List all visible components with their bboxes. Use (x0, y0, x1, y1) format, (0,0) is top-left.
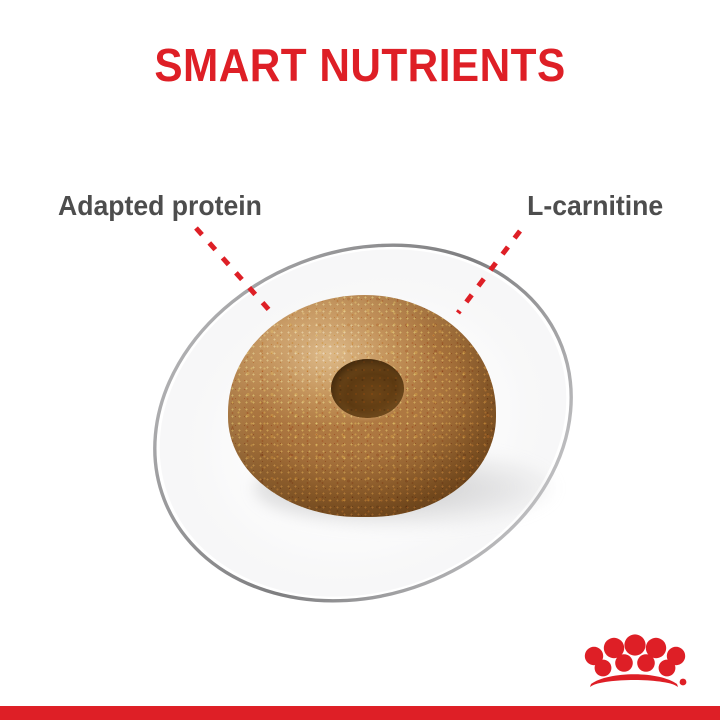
kibble-hole-texture (331, 359, 404, 418)
crown-dot-bottom-2 (615, 654, 633, 672)
smart-nutrients-infographic: SMART NUTRIENTS Adapted protein L-carnit… (0, 0, 720, 720)
trademark-mark (680, 679, 687, 686)
kibble-center-hole (331, 359, 404, 418)
crown-dot-bottom-3 (637, 654, 655, 672)
royal-canin-crown-logo (578, 634, 690, 692)
crown-dot-bottom-4 (659, 660, 676, 677)
footer-red-bar (0, 706, 720, 720)
kibble-image (228, 295, 496, 527)
kibble-body (228, 295, 496, 517)
crown-dot-top-3 (624, 634, 645, 655)
crown-dot-bottom-1 (595, 660, 612, 677)
